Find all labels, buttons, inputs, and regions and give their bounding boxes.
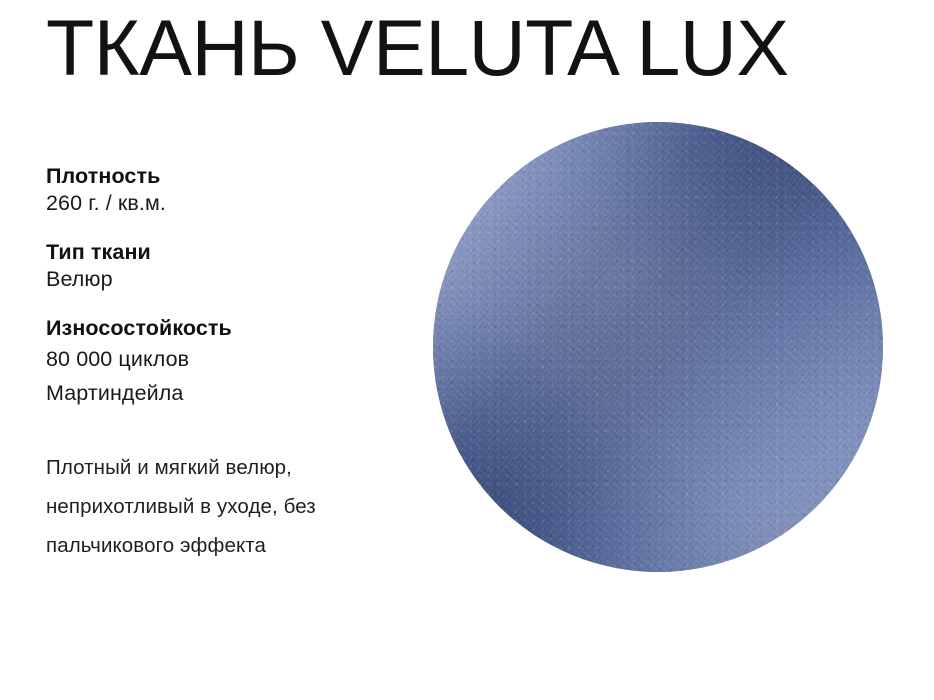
velour-fabric-swatch (433, 122, 883, 572)
spec-list: Плотность 260 г. / кв.м. Тип ткани Велюр… (46, 163, 436, 432)
spec-value-abrasion-cycles: 80 000 циклов (46, 342, 436, 376)
fabric-weave-texture (433, 122, 883, 572)
spec-label-density: Плотность (46, 163, 436, 190)
spec-label-abrasion-resistance: Износостойкость (46, 315, 436, 342)
spec-item-density: Плотность 260 г. / кв.м. (46, 163, 436, 217)
fabric-description: Плотный и мягкий велюр, неприхотливый в … (46, 448, 426, 565)
spec-value-abrasion-standard: Мартиндейла (46, 376, 436, 410)
spec-item-abrasion-resistance: Износостойкость 80 000 циклов Мартиндейл… (46, 315, 436, 410)
page-title: ТКАНЬ VELUTA LUX (46, 8, 789, 87)
spec-value-fabric-type: Велюр (46, 266, 436, 293)
spec-label-fabric-type: Тип ткани (46, 239, 436, 266)
fabric-spec-card: ТКАНЬ VELUTA LUX Плотность 260 г. / кв.м… (0, 0, 934, 700)
spec-value-density: 260 г. / кв.м. (46, 190, 436, 217)
spec-item-fabric-type: Тип ткани Велюр (46, 239, 436, 293)
